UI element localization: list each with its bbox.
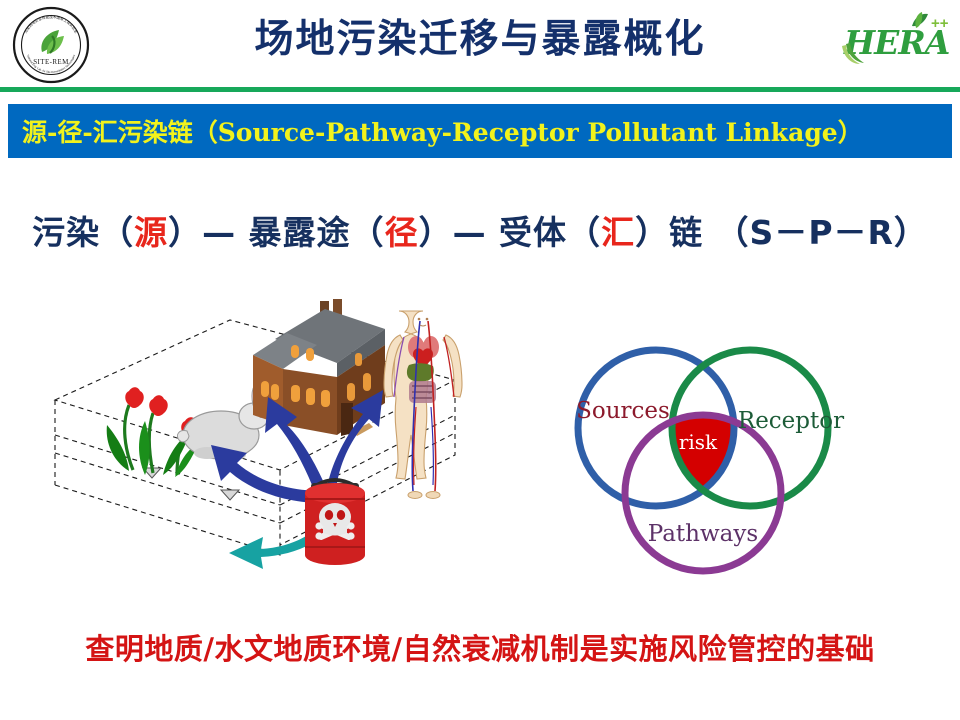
toxic-barrel-icon [305,480,365,565]
headline-seg-source: 源 [134,213,168,252]
sources-label: Sources [576,398,670,424]
risk-label: risk [679,430,718,454]
section-banner: 源-径-汇污染链（Source-Pathway-Receptor Polluta… [8,104,952,158]
human-body-icon [384,311,462,499]
headline-seg-receptor: 汇 [601,213,635,252]
headline-seg-1: 污染（ [32,213,134,252]
headline-spr-chain: 污染（源）— 暴露途（径）— 受体（汇）链 （S－P－R） [0,206,960,254]
page-title: 场地污染迁移与暴露概化 [0,12,960,68]
headline-seg-pathway: 径 [385,213,419,252]
slide-header: 污染场地安全修复技术国家工程实验室 National Eng. Lab. for… [0,0,960,88]
headline-seg-4: ）链 （S－P－R） [635,213,928,252]
hera-logo: HERA ++ [838,10,950,72]
headline-seg-3: ）— 受体（ [419,213,602,252]
pathways-label: Pathways [648,521,758,547]
headline-seg-2: ）— 暴露途（ [168,213,385,252]
exposure-block-diagram [25,285,495,600]
bottom-caption: 查明地质/水文地质环境/自然衰减机制是实施风险管控的基础 [0,626,960,668]
header-divider [0,87,960,92]
spr-risk-venn-diagram: Sources Receptor Pathways risk [538,328,868,598]
svg-text:++: ++ [931,15,949,32]
receptor-label: Receptor [738,408,844,434]
section-banner-text: 源-径-汇污染链（Source-Pathway-Receptor Polluta… [8,113,863,149]
